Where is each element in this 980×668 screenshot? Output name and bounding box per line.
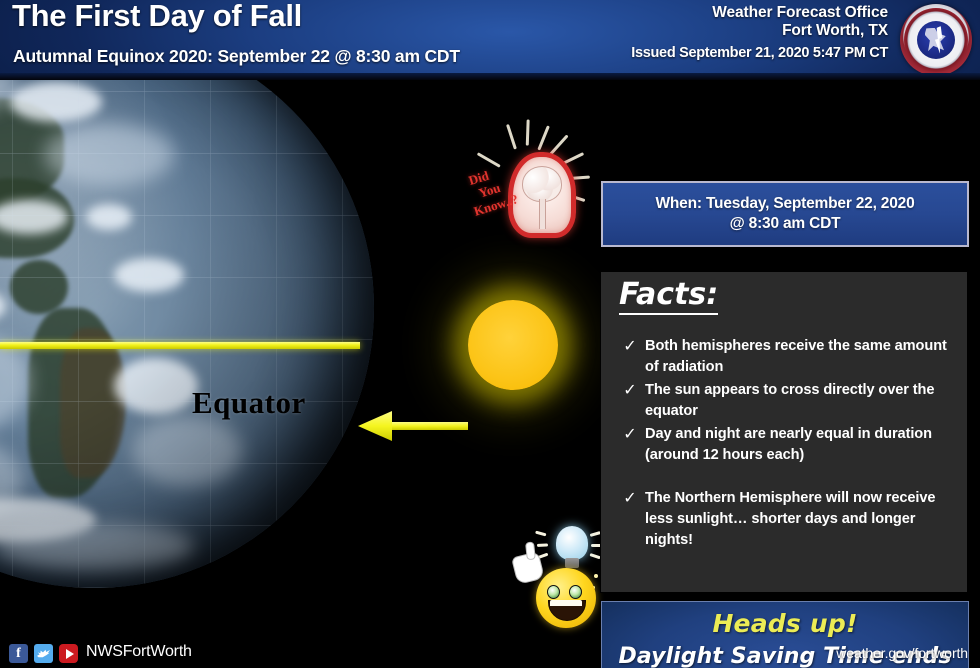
check-icon: ✓ bbox=[615, 336, 645, 359]
twitter-bird-glyph bbox=[37, 648, 50, 659]
arrow-head bbox=[358, 411, 392, 441]
social-handle[interactable]: NWSFortWorth bbox=[86, 643, 192, 661]
play-triangle-glyph bbox=[66, 649, 74, 659]
hand-finger bbox=[525, 541, 536, 560]
equator-label: Equator bbox=[192, 385, 306, 421]
fact-item: ✓ Day and night are nearly equal in dura… bbox=[615, 424, 957, 466]
smiley-eye-right bbox=[569, 585, 582, 599]
fact-item: ✓ The Northern Hemisphere will now recei… bbox=[615, 488, 957, 551]
office-block: Weather Forecast Office Fort Worth, TX I… bbox=[631, 4, 888, 62]
smiley-lightbulb-icon bbox=[512, 520, 608, 628]
did-you-know-badge: Did You Know..? bbox=[466, 128, 584, 240]
fact-item: ✓ Both hemispheres receive the same amou… bbox=[615, 336, 957, 378]
footer-bar: f NWSFortWorth weather.gov/fortworth bbox=[0, 638, 980, 668]
when-box: When: Tuesday, September 22, 2020 @ 8:30… bbox=[601, 181, 969, 247]
smiley-eye-left bbox=[547, 585, 560, 599]
fact-text: The sun appears to cross directly over t… bbox=[645, 380, 957, 422]
lightning-bolt-icon bbox=[933, 26, 944, 54]
left-arrow-icon bbox=[358, 411, 468, 441]
fact-text: Both hemispheres receive the same amount… bbox=[645, 336, 957, 378]
facts-title: Facts: bbox=[619, 278, 718, 315]
heads-up-title: Heads up! bbox=[602, 609, 968, 638]
facebook-icon[interactable]: f bbox=[9, 644, 28, 663]
page-title: The First Day of Fall bbox=[12, 0, 302, 34]
illustration-stage: Equator bbox=[0, 80, 980, 638]
when-text: When: Tuesday, September 22, 2020 @ 8:30… bbox=[655, 194, 914, 234]
youtube-icon[interactable] bbox=[59, 644, 78, 663]
office-name: Weather Forecast Office bbox=[631, 4, 888, 22]
facts-list: ✓ Both hemispheres receive the same amou… bbox=[615, 336, 957, 553]
nws-seal-icon bbox=[900, 4, 972, 76]
fact-item: ✓ The sun appears to cross directly over… bbox=[615, 380, 957, 422]
seal-inner bbox=[917, 21, 955, 59]
when-line-1: When: Tuesday, September 22, 2020 bbox=[655, 195, 914, 212]
brain-stem bbox=[539, 199, 546, 229]
lightbulb-base bbox=[565, 558, 579, 568]
check-icon: ✓ bbox=[615, 424, 645, 447]
footer-url[interactable]: weather.gov/fortworth bbox=[836, 645, 968, 661]
earth-globe-container bbox=[0, 80, 470, 638]
fact-text: The Northern Hemisphere will now receive… bbox=[645, 488, 957, 551]
seal-ring bbox=[904, 8, 968, 72]
page-subtitle: Autumnal Equinox 2020: September 22 @ 8:… bbox=[13, 46, 460, 67]
office-city: Fort Worth, TX bbox=[631, 22, 888, 40]
lightbulb-icon bbox=[556, 526, 588, 560]
issued-timestamp: Issued September 21, 2020 5:47 PM CT bbox=[631, 45, 888, 62]
smiley-face-icon bbox=[536, 568, 596, 628]
smiley-teeth bbox=[550, 600, 582, 606]
check-icon: ✓ bbox=[615, 488, 645, 511]
equator-line bbox=[0, 342, 360, 349]
header-banner: The First Day of Fall Autumnal Equinox 2… bbox=[0, 0, 980, 80]
fact-text: Day and night are nearly equal in durati… bbox=[645, 424, 957, 466]
earth-globe bbox=[0, 80, 374, 588]
when-line-2: @ 8:30 am CDT bbox=[655, 214, 914, 234]
facts-box: Facts: ✓ Both hemispheres receive the sa… bbox=[601, 272, 967, 592]
twitter-icon[interactable] bbox=[34, 644, 53, 663]
check-icon: ✓ bbox=[615, 380, 645, 403]
poster-graphic: The First Day of Fall Autumnal Equinox 2… bbox=[0, 0, 980, 668]
sun-icon bbox=[468, 300, 558, 390]
